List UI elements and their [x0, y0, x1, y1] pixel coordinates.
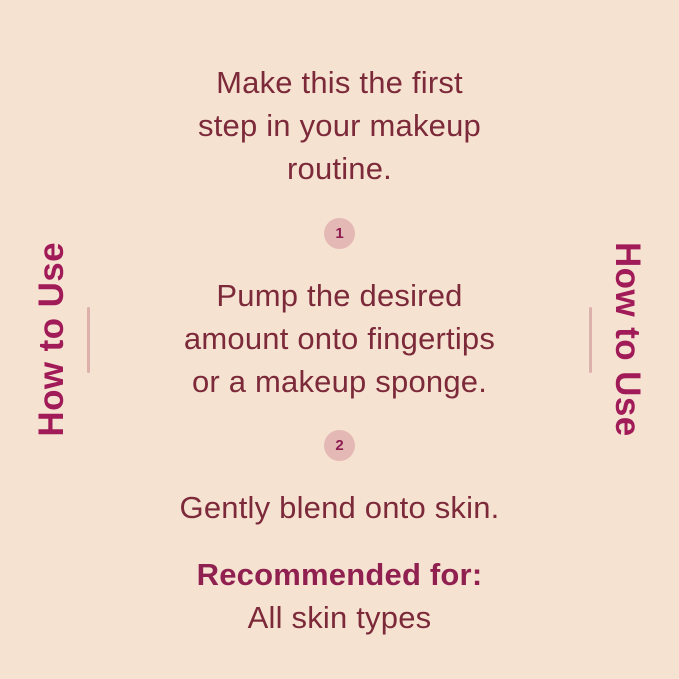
- right-rail-divider: [589, 307, 592, 373]
- right-rail-inner: How to Use: [589, 0, 679, 679]
- left-rail-divider: [87, 307, 90, 373]
- how-to-use-panel: How to Use How to Use Make this the firs…: [0, 0, 679, 679]
- right-rail: How to Use: [569, 0, 679, 679]
- instructions-column: Make this the first step in your makeup …: [110, 0, 569, 679]
- right-rail-label: How to Use: [610, 242, 645, 437]
- left-rail-label: How to Use: [34, 242, 69, 437]
- left-rail-inner: How to Use: [0, 0, 90, 679]
- recommended-value: All skin types: [248, 598, 432, 638]
- step-badge-1: 1: [324, 218, 355, 249]
- step-2-text: Gently blend onto skin.: [160, 487, 520, 530]
- intro-text: Make this the first step in your makeup …: [175, 62, 505, 190]
- left-rail: How to Use: [0, 0, 110, 679]
- recommended-label: Recommended for:: [197, 555, 483, 595]
- step-badge-2: 2: [324, 430, 355, 461]
- step-1-text: Pump the desired amount onto fingertips …: [160, 275, 520, 403]
